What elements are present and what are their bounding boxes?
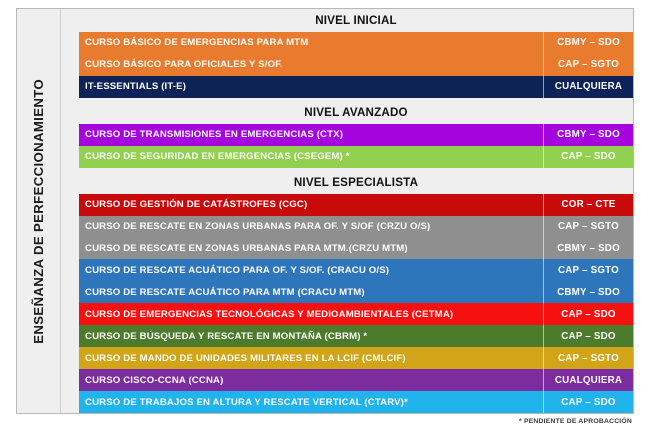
course-rank-badge: CAP – SDO	[543, 146, 633, 168]
course-rank-badge: CAP – SGTO	[543, 347, 633, 369]
course-rank-badge: CBMY – SDO	[543, 281, 633, 303]
course-table: NIVEL INICIALCURSO BÁSICO DE EMERGENCIAS…	[79, 9, 633, 413]
course-rank-badge: CBMY – SDO	[543, 238, 633, 260]
course-row[interactable]: CURSO DE EMERGENCIAS TECNOLÓGICAS Y MEDI…	[79, 303, 633, 325]
course-rank-badge: CAP – SGTO	[543, 54, 633, 76]
course-name: CURSO DE BÚSQUEDA Y RESCATE EN MONTAÑA (…	[79, 325, 543, 347]
course-name: CURSO DE RESCATE ACUÁTICO PARA OF. Y S/O…	[79, 259, 543, 281]
course-rank-badge: CAP – SDO	[543, 325, 633, 347]
course-rank-badge: COR – CTE	[543, 194, 633, 216]
course-name: CURSO DE TRANSMISIONES EN EMERGENCIAS (C…	[79, 124, 543, 146]
course-row[interactable]: CURSO DE RESCATE EN ZONAS URBANAS PARA O…	[79, 216, 633, 238]
course-rank-badge: CUALQUIERA	[543, 76, 633, 98]
course-name: CURSO DE RESCATE EN ZONAS URBANAS PARA M…	[79, 238, 543, 260]
footnote: * PENDIENTE DE APROBACCIÓN	[519, 418, 632, 425]
course-name: CURSO DE MANDO DE UNIDADES MILITARES EN …	[79, 347, 543, 369]
course-name: CURSO DE SEGURIDAD EN EMERGENCIAS (CSEGE…	[79, 146, 543, 168]
course-row[interactable]: CURSO DE RESCATE ACUÁTICO PARA MTM (CRAC…	[79, 281, 633, 303]
training-levels-infographic: ENSEÑANZA DE PERFECCIONAMIENTO NIVEL INI…	[0, 0, 650, 438]
course-row[interactable]: CURSO DE RESCATE EN ZONAS URBANAS PARA M…	[79, 238, 633, 260]
course-rank-badge: CAP – SDO	[543, 303, 633, 325]
course-row[interactable]: CURSO DE SEGURIDAD EN EMERGENCIAS (CSEGE…	[79, 146, 633, 168]
course-row[interactable]: CURSO DE TRABAJOS EN ALTURA Y RESCATE VE…	[79, 391, 633, 413]
course-row[interactable]: CURSO DE GESTIÓN DE CATÁSTROFES (CGC)COR…	[79, 194, 633, 216]
course-rank-badge: CAP – SDO	[543, 391, 633, 413]
course-name: IT-ESSENTIALS (IT-E)	[79, 76, 543, 98]
level-heading: NIVEL AVANZADO	[79, 102, 633, 124]
course-name: CURSO DE EMERGENCIAS TECNOLÓGICAS Y MEDI…	[79, 303, 543, 325]
spacer-column	[61, 9, 79, 413]
course-row[interactable]: CURSO DE RESCATE ACUÁTICO PARA OF. Y S/O…	[79, 259, 633, 281]
course-rank-badge: CAP – SGTO	[543, 259, 633, 281]
course-rank-badge: CBMY – SDO	[543, 124, 633, 146]
vertical-axis-label-text: ENSEÑANZA DE PERFECCIONAMIENTO	[31, 79, 46, 344]
course-name: CURSO BÁSICO PARA OFICIALES Y S/OF.	[79, 54, 543, 76]
course-row[interactable]: CURSO DE BÚSQUEDA Y RESCATE EN MONTAÑA (…	[79, 325, 633, 347]
course-row[interactable]: CURSO BÁSICO PARA OFICIALES Y S/OF.CAP –…	[79, 54, 633, 76]
course-row[interactable]: CURSO BÁSICO DE EMERGENCIAS PARA MTMCBMY…	[79, 32, 633, 54]
course-name: CURSO CISCO-CCNA (CCNA)	[79, 369, 543, 391]
course-rank-badge: CAP – SGTO	[543, 216, 633, 238]
vertical-axis-label: ENSEÑANZA DE PERFECCIONAMIENTO	[17, 9, 61, 413]
course-rank-badge: CBMY – SDO	[543, 32, 633, 54]
course-name: CURSO DE GESTIÓN DE CATÁSTROFES (CGC)	[79, 194, 543, 216]
course-row[interactable]: IT-ESSENTIALS (IT-E)CUALQUIERA	[79, 76, 633, 98]
level-heading: NIVEL INICIAL	[79, 10, 633, 32]
course-row[interactable]: CURSO DE MANDO DE UNIDADES MILITARES EN …	[79, 347, 633, 369]
course-name: CURSO BÁSICO DE EMERGENCIAS PARA MTM	[79, 32, 543, 54]
course-rank-badge: CUALQUIERA	[543, 369, 633, 391]
course-row[interactable]: CURSO DE TRANSMISIONES EN EMERGENCIAS (C…	[79, 124, 633, 146]
course-name: CURSO DE RESCATE EN ZONAS URBANAS PARA O…	[79, 216, 543, 238]
course-name: CURSO DE TRABAJOS EN ALTURA Y RESCATE VE…	[79, 391, 543, 413]
course-name: CURSO DE RESCATE ACUÁTICO PARA MTM (CRAC…	[79, 281, 543, 303]
chart-frame: ENSEÑANZA DE PERFECCIONAMIENTO NIVEL INI…	[16, 8, 634, 414]
level-heading: NIVEL ESPECIALISTA	[79, 172, 633, 194]
course-row[interactable]: CURSO CISCO-CCNA (CCNA)CUALQUIERA	[79, 369, 633, 391]
